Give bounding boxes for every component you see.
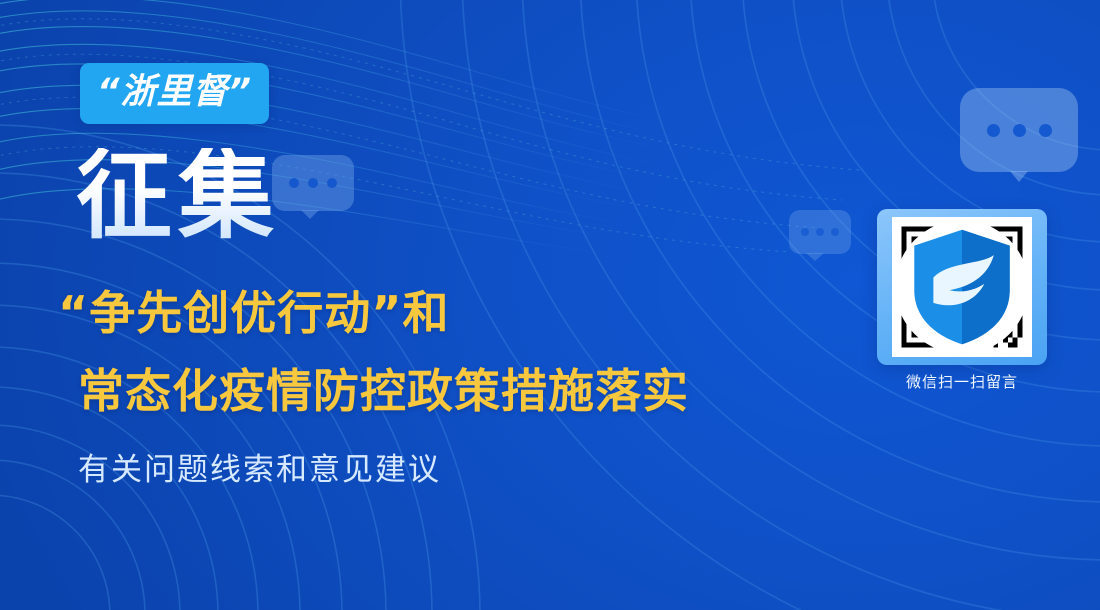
page-title: 征集 [76, 148, 280, 244]
bubble-dot [801, 228, 809, 236]
bubble-dot [289, 178, 299, 188]
qr-code-caption: 微信扫一扫留言 [877, 371, 1047, 392]
brand-badge: “浙里督” [80, 63, 269, 124]
speech-bubble-icon [789, 210, 851, 254]
shield-logo-icon [892, 217, 1032, 357]
bubble-dot [987, 124, 1000, 137]
bubble-dot [327, 178, 337, 188]
speech-bubble-icon [960, 88, 1078, 172]
bubble-tail [301, 210, 319, 219]
bubble-dot [831, 228, 839, 236]
bubble-dot [308, 178, 318, 188]
poster-canvas: “浙里督” 征集 “争先创优行动”和 常态化疫情防控政策措施落实 有关问题线索和… [0, 0, 1100, 610]
brand-badge-label: “浙里督” [97, 75, 252, 110]
qr-code-panel[interactable] [877, 209, 1047, 365]
speech-bubble-icon [272, 155, 354, 211]
bubble-dot [1039, 124, 1052, 137]
subtitle: 有关问题线索和意见建议 [78, 452, 441, 489]
qr-code-icon[interactable] [892, 217, 1032, 357]
headline-line-1: “争先创优行动”和 [58, 290, 449, 336]
bubble-dot [1013, 124, 1026, 137]
bubble-tail [1010, 171, 1028, 182]
bubble-tail [806, 253, 824, 261]
bubble-dot [816, 228, 824, 236]
headline-line-2: 常态化疫情防控政策措施落实 [78, 368, 689, 414]
